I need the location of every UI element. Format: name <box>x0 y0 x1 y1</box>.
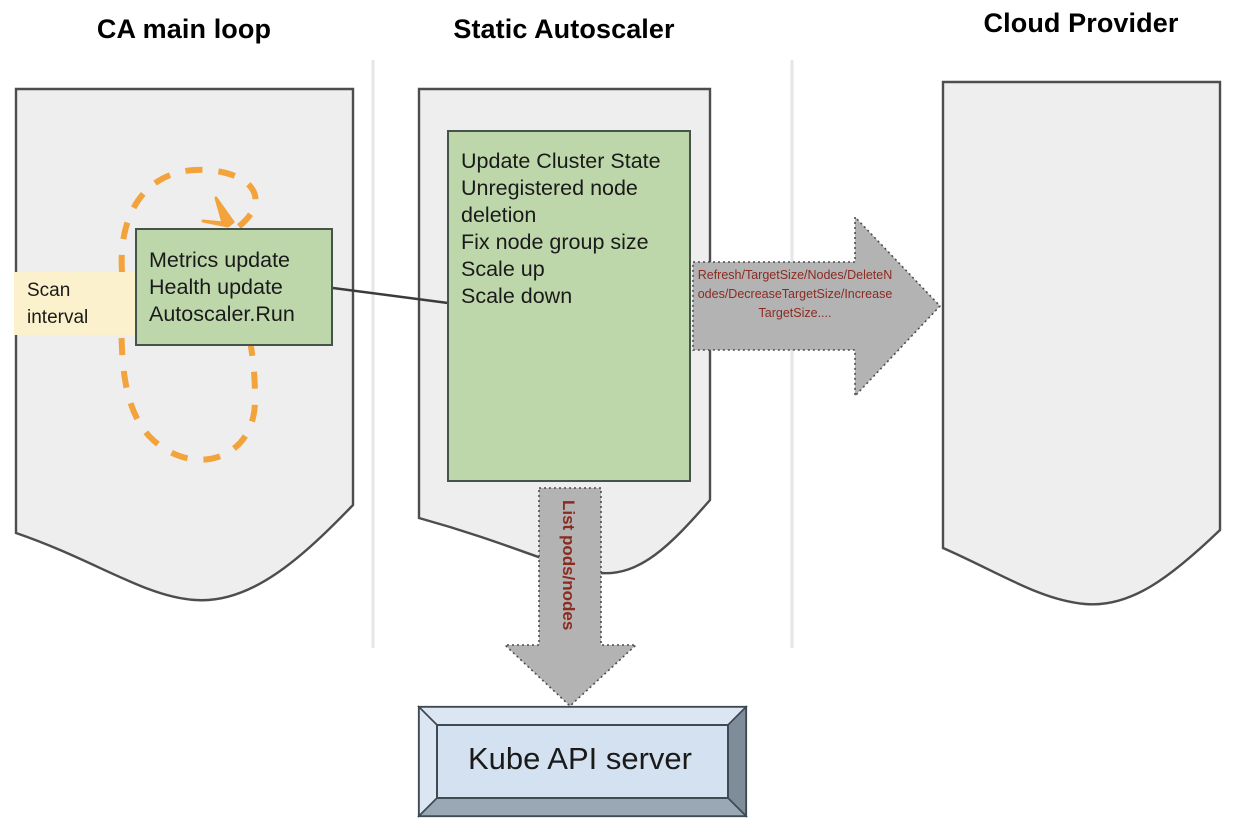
static-step-line-2: Unregistered node <box>449 175 689 202</box>
list-pods-nodes-arrow-label: List pods/nodes <box>558 500 578 630</box>
static-step-line-5: Scale up <box>449 256 689 283</box>
static-step-line-4: Fix node group size <box>449 229 689 256</box>
static-step-line-6: Scale down <box>449 283 689 310</box>
metrics-update-box: Metrics update Health update Autoscaler.… <box>135 228 333 346</box>
static-autoscaler-steps-box: Update Cluster State Unregistered node d… <box>447 130 691 482</box>
scan-interval-note-line-2: interval <box>14 304 136 331</box>
scan-interval-note: Scan interval <box>14 272 136 335</box>
cloud-provider-api-arrow-label: Refresh/TargetSize/Nodes/DeleteNodes/Dec… <box>697 266 893 323</box>
scan-interval-note-line-1: Scan <box>14 277 136 304</box>
metrics-update-line-2: Health update <box>137 274 331 301</box>
kube-api-server-label: Kube API server <box>432 716 728 802</box>
diagram-canvas: CA main loop Static Autoscaler Cloud Pro… <box>0 0 1240 838</box>
static-step-line-3: deletion <box>449 202 689 229</box>
metrics-update-line-1: Metrics update <box>137 247 331 274</box>
lane-shape-cloud-provider <box>943 82 1220 604</box>
metrics-update-line-3: Autoscaler.Run <box>137 301 331 328</box>
static-step-line-1: Update Cluster State <box>449 148 689 175</box>
